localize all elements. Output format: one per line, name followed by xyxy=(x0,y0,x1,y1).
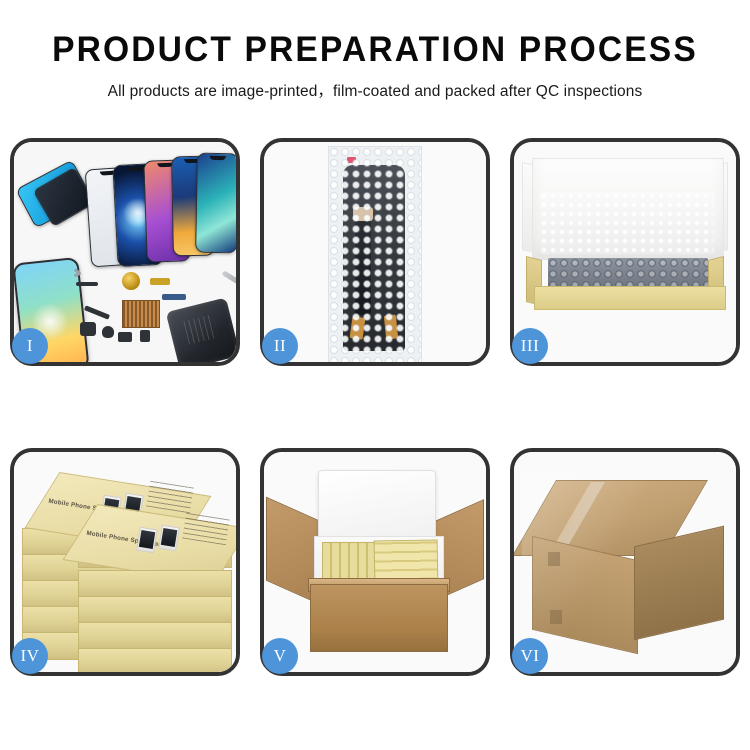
step-badge-2: II xyxy=(262,328,298,364)
bubble-wrap-graphic xyxy=(328,146,422,362)
step-image-1 xyxy=(14,142,236,362)
step-panel-1: I xyxy=(10,138,240,366)
phone-screen-fan-graphic xyxy=(20,150,236,268)
step-panel-6: VI xyxy=(510,448,740,676)
step-badge-5: V xyxy=(262,638,298,674)
step-panel-4: Mobile Phone Spare Parts Mobile Phone Sp… xyxy=(10,448,240,676)
page-title: PRODUCT PREPARATION PROCESS xyxy=(15,30,735,70)
step-panel-2: II xyxy=(260,138,490,366)
step-image-5 xyxy=(264,452,486,672)
step-image-2 xyxy=(264,142,486,362)
page-subtitle: All products are image-printed，film-coat… xyxy=(0,79,750,101)
step-panel-5: V xyxy=(260,448,490,676)
spare-parts-graphic xyxy=(74,270,236,362)
box-stack-graphic: Mobile Phone Spare Parts Mobile Phone Sp… xyxy=(20,470,234,666)
process-steps-grid: I II III xyxy=(10,138,740,676)
step-image-4: Mobile Phone Spare Parts Mobile Phone Sp… xyxy=(14,452,236,672)
step-badge-1: I xyxy=(12,328,48,364)
step-image-6 xyxy=(514,452,736,672)
step-badge-6: VI xyxy=(512,638,548,674)
carton-body-graphic xyxy=(310,584,448,652)
step-badge-4: IV xyxy=(12,638,48,674)
step-image-3 xyxy=(514,142,736,362)
step-badge-3: III xyxy=(512,328,548,364)
page-header: PRODUCT PREPARATION PROCESS All products… xyxy=(0,0,750,101)
step-panel-3: III xyxy=(510,138,740,366)
carton-side-graphic xyxy=(634,526,724,641)
